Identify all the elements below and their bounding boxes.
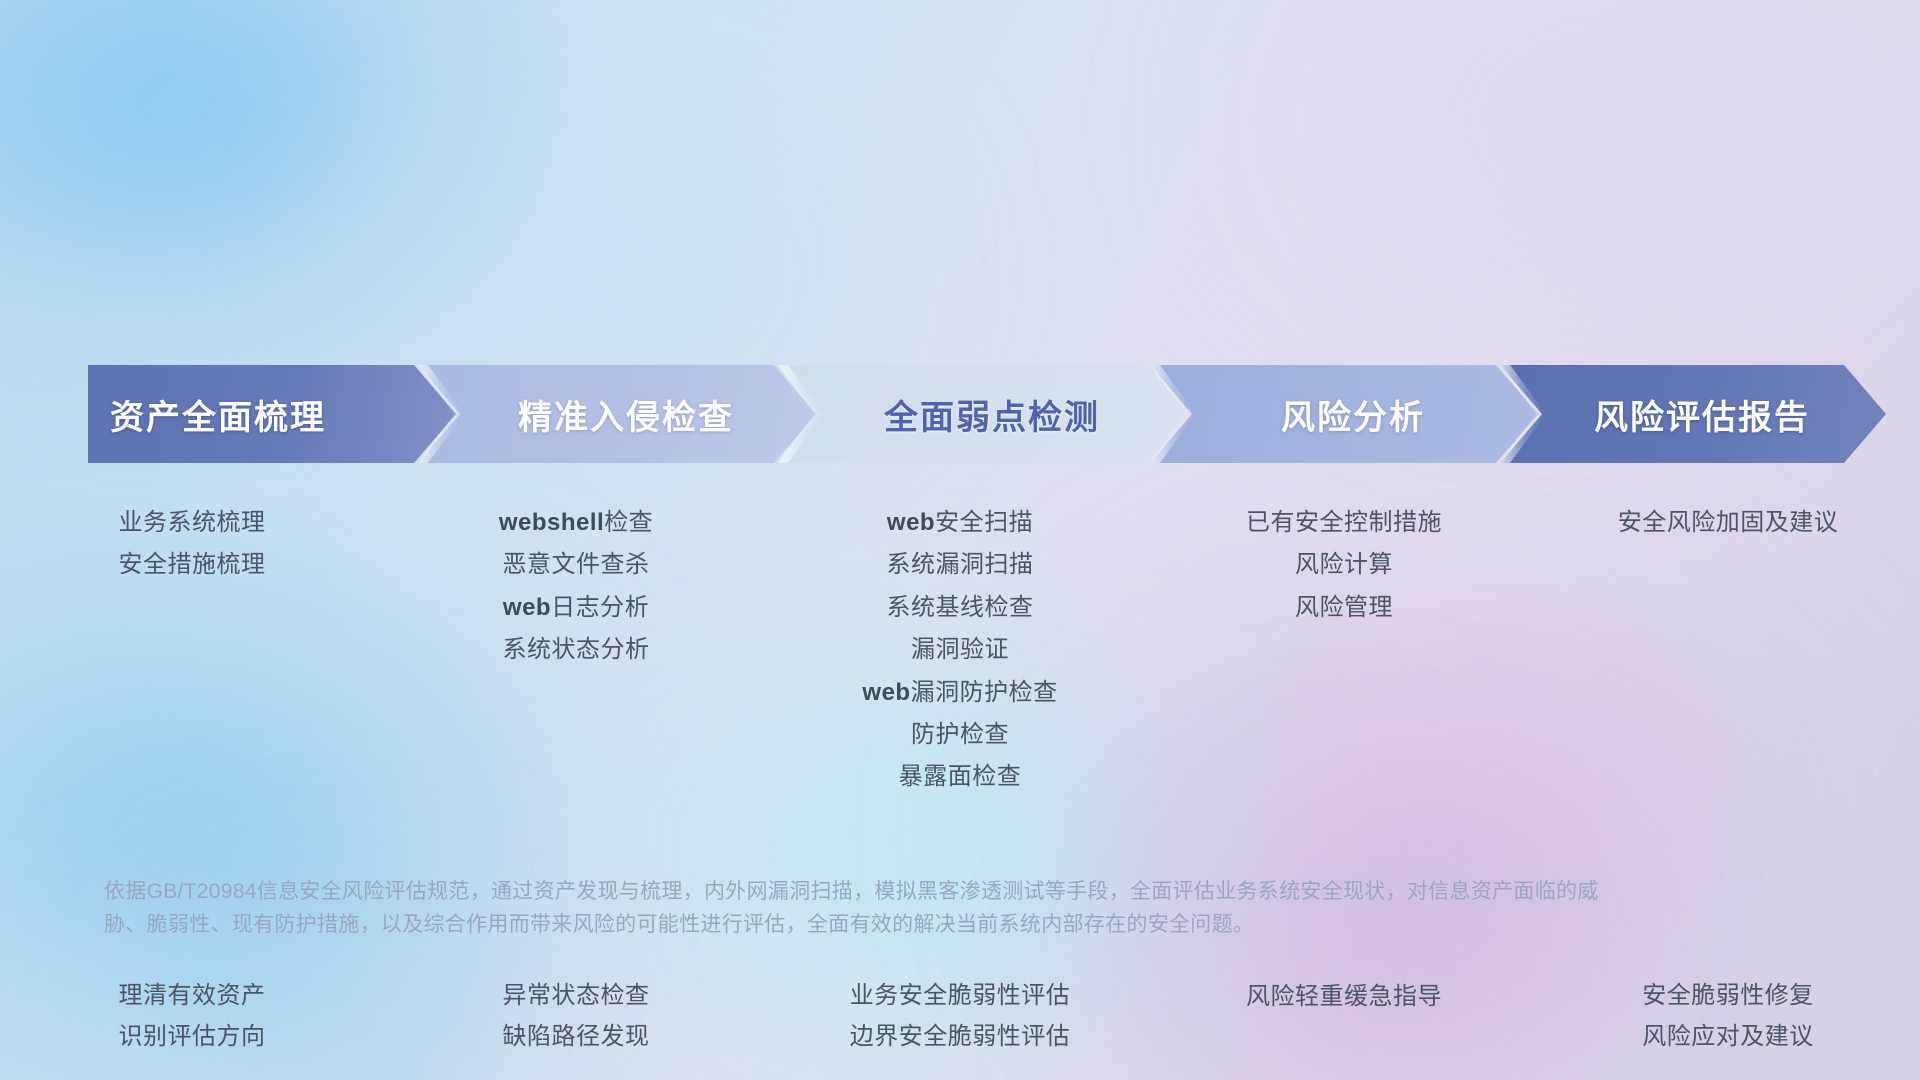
input-item: 缺陷路径发现 [503, 1024, 650, 1050]
input-item: 边界安全脆弱性评估 [850, 1024, 1071, 1050]
footer-description: 依据GB/T20984信息安全风险评估规范，通过资产发现与梳理，内外网漏洞扫描，… [104, 876, 1624, 941]
stage-inputs-4: 风险轻重缓急指导 [1246, 984, 1442, 1010]
output-item: 业务系统梳理 [119, 510, 266, 536]
output-item: 安全措施梳理 [119, 552, 266, 578]
output-item: 防护检查 [911, 722, 1009, 748]
stage-outputs-5: 安全风险加固及建议 [1536, 510, 1920, 536]
output-cn: 安全风险加固及建议 [1618, 509, 1839, 536]
output-cn: 检查 [604, 509, 653, 536]
input-item: 风险应对及建议 [1642, 1024, 1814, 1050]
output-en: web [862, 679, 910, 706]
input-item: 识别评估方向 [119, 1024, 266, 1050]
output-cn: 业务系统梳理 [119, 509, 266, 536]
input-item: 理清有效资产 [119, 983, 266, 1009]
diagram-canvas: 资产全面梳理 精准入侵检查 全面弱点检测 风险分析 风险评估报告 理清有效资产 … [0, 0, 1920, 1080]
output-item: 已有安全控制措施 [1246, 510, 1442, 536]
output-cn: 系统状态分析 [503, 636, 650, 663]
output-item: 恶意文件查杀 [503, 552, 650, 578]
output-cn: 恶意文件查杀 [503, 551, 650, 578]
output-cn: 防护检查 [911, 721, 1009, 748]
stage-outputs-3: web安全扫描 系统漏洞扫描 系统基线检查 漏洞验证 web漏洞防护检查 防护检… [768, 510, 1152, 791]
input-item: 风险轻重缓急指导 [1246, 984, 1442, 1010]
output-cn: 安全扫描 [935, 509, 1033, 536]
output-item: 暴露面检查 [899, 764, 1022, 790]
stage-outputs-2: webshell检查 恶意文件查杀 web日志分析 系统状态分析 [384, 510, 768, 664]
output-item: web安全扫描 [887, 510, 1033, 536]
output-item: webshell检查 [499, 510, 653, 536]
stage-inputs-1: 理清有效资产 识别评估方向 [119, 983, 266, 1050]
output-item: web日志分析 [503, 595, 649, 621]
output-en: web [887, 509, 935, 536]
output-item: web漏洞防护检查 [862, 680, 1057, 706]
output-en: webshell [499, 509, 604, 536]
input-item: 异常状态检查 [503, 983, 650, 1009]
output-item: 风险计算 [1295, 552, 1393, 578]
output-cn: 风险管理 [1295, 594, 1393, 621]
output-en: web [503, 594, 551, 621]
output-cn: 风险计算 [1295, 551, 1393, 578]
output-cn: 漏洞验证 [911, 636, 1009, 663]
stage-inputs-2: 异常状态检查 缺陷路径发现 [503, 983, 650, 1050]
output-item: 系统漏洞扫描 [887, 552, 1034, 578]
stage-inputs-3: 业务安全脆弱性评估 边界安全脆弱性评估 [850, 983, 1071, 1050]
output-cn: 系统漏洞扫描 [887, 551, 1034, 578]
stage-outputs-4: 已有安全控制措施 风险计算 风险管理 [1152, 510, 1536, 621]
stage-inputs-5: 安全脆弱性修复 风险应对及建议 [1642, 983, 1814, 1050]
output-item: 漏洞验证 [911, 637, 1009, 663]
output-item: 系统状态分析 [503, 637, 650, 663]
stage-outputs-1: 业务系统梳理 安全措施梳理 [0, 510, 384, 579]
output-item: 风险管理 [1295, 595, 1393, 621]
input-item: 安全脆弱性修复 [1642, 983, 1814, 1009]
input-item: 业务安全脆弱性评估 [850, 983, 1071, 1009]
output-cn: 日志分析 [551, 594, 649, 621]
output-item: 系统基线检查 [887, 595, 1034, 621]
output-cn: 漏洞防护检查 [911, 679, 1058, 706]
output-cn: 已有安全控制措施 [1246, 509, 1442, 536]
output-cn: 安全措施梳理 [119, 551, 266, 578]
output-item: 安全风险加固及建议 [1618, 510, 1839, 536]
output-cn: 系统基线检查 [887, 594, 1034, 621]
output-cn: 暴露面检查 [899, 763, 1022, 790]
